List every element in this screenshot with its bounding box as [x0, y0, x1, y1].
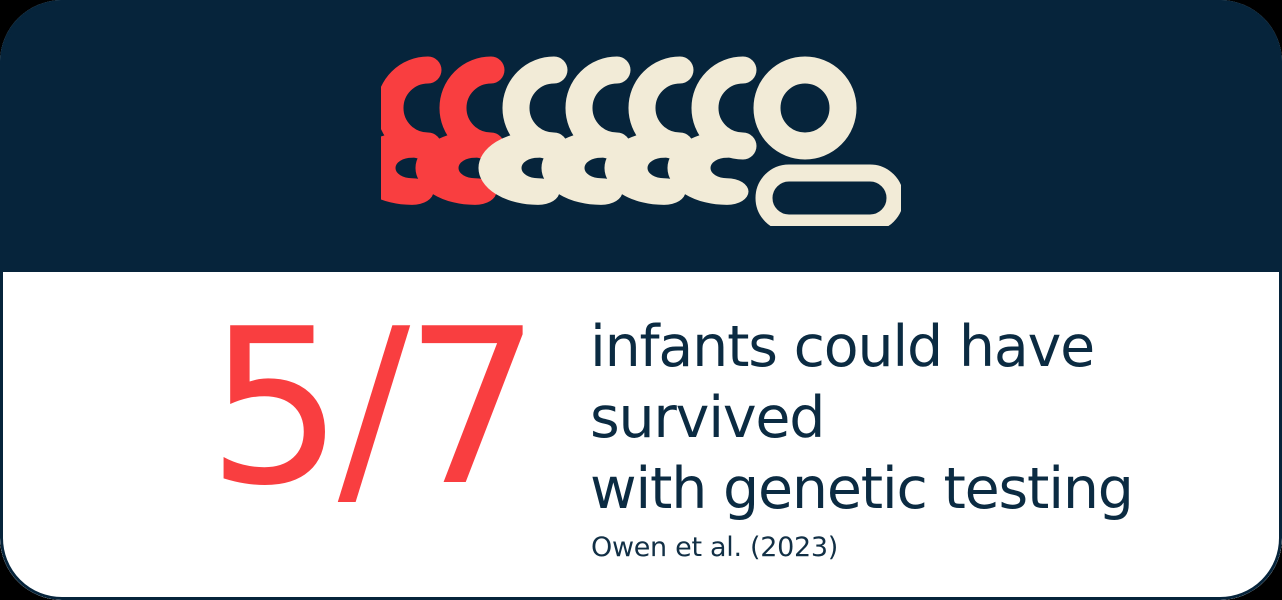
logo-c-arc-squished-6 [689, 144, 727, 191]
headline-line-3: with genetic testing [590, 454, 1190, 525]
logo-pill-ring [764, 173, 895, 223]
stat-card: 5/7 infants could have survived with gen… [0, 0, 1282, 600]
headline-line-1: infants could have [590, 312, 1190, 383]
logo-c-arc-squished-5 [626, 144, 664, 191]
headline-line-2: survived [590, 383, 1190, 454]
logo-panel [0, 0, 1282, 272]
logo-c-arc-squished-2 [437, 144, 475, 191]
logo-c-arc-squished-1 [381, 144, 412, 191]
stat-headline: infants could have survived with genetic… [590, 312, 1190, 525]
stat-fraction: 5/7 [196, 300, 546, 515]
logo-o-ring [767, 70, 843, 146]
logo-c-arc-squished-4 [563, 144, 601, 191]
logo-c-arc-squished-3 [500, 144, 538, 191]
stat-citation: Owen et al. (2023) [591, 532, 838, 564]
cccccco-logo [381, 50, 901, 226]
